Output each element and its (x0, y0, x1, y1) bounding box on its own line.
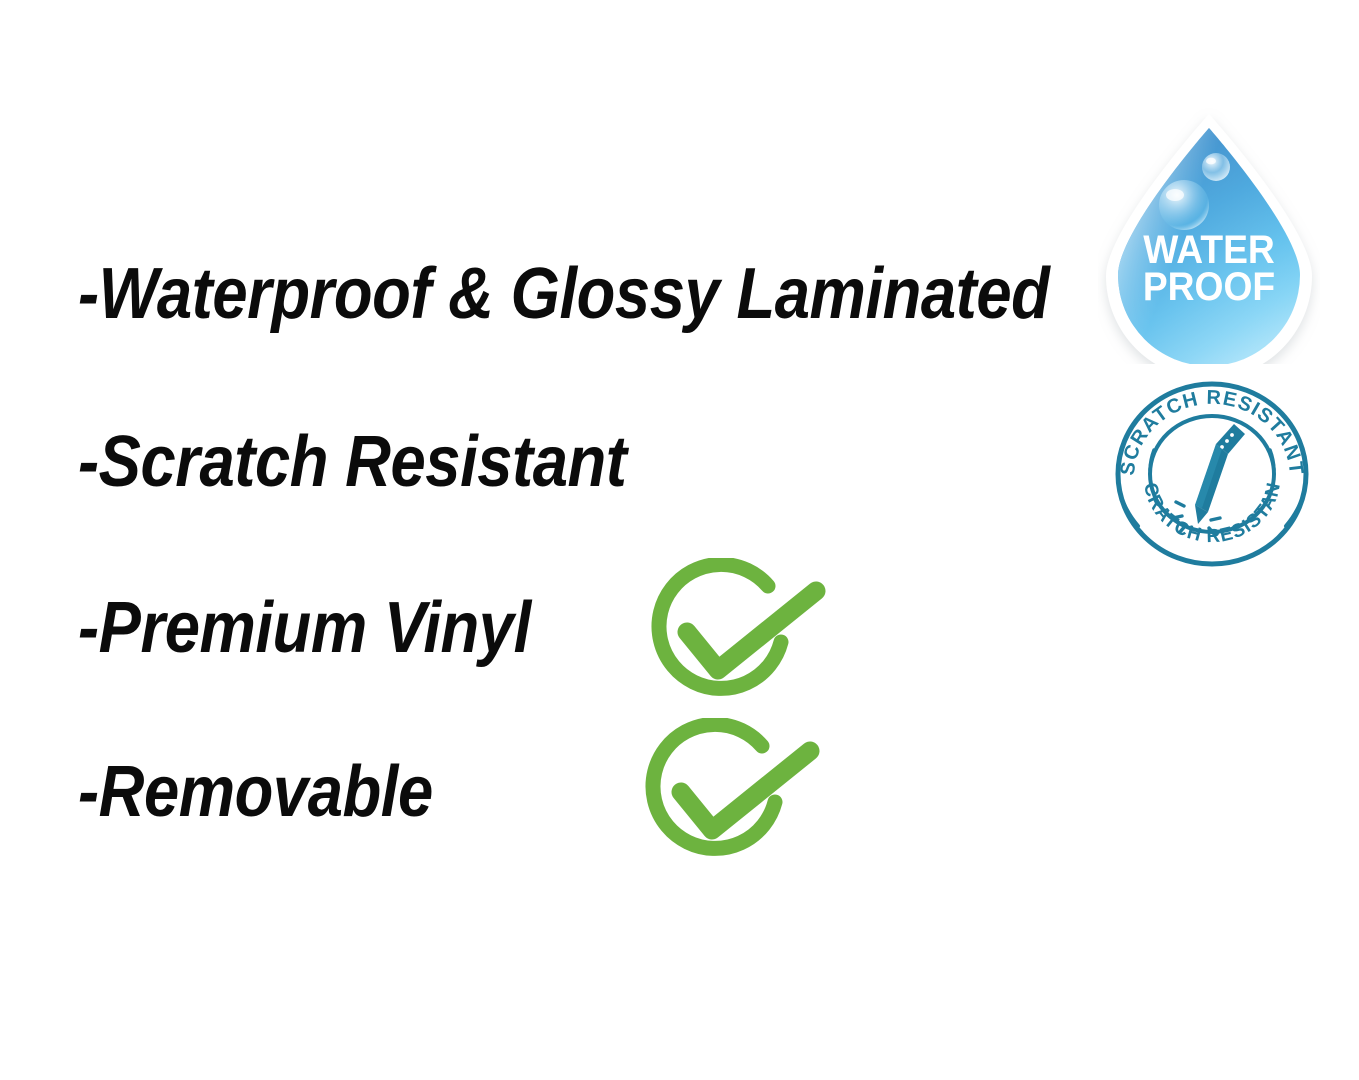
check-mark (681, 751, 810, 830)
check-circle-icon (640, 558, 835, 718)
feature-item-premium-vinyl: -Premium Vinyl (78, 592, 531, 664)
water-bubble-large (1159, 180, 1209, 230)
scratch-resistant-stamp: SCRATCH RESISTANT SCRATCH RESISTANT (1112, 378, 1312, 570)
product-features-graphic: -Waterproof & Glossy Laminated -Scratch … (0, 0, 1359, 1080)
feature-item-removable: -Removable (78, 756, 433, 828)
knife-icon (1173, 424, 1245, 535)
green-check-removable (634, 718, 829, 878)
scratch-resistant-seal-icon: SCRATCH RESISTANT SCRATCH RESISTANT (1112, 378, 1312, 570)
feature-item-scratch-resistant: -Scratch Resistant (78, 426, 626, 498)
green-check-premium-vinyl (640, 558, 835, 718)
water-drop-icon (1098, 108, 1320, 364)
water-bubble-small-highlight (1206, 158, 1216, 165)
water-bubble-small (1202, 153, 1230, 181)
feature-item-waterproof-glossy-laminated: -Waterproof & Glossy Laminated (78, 258, 1049, 330)
water-bubble-large-highlight (1166, 189, 1184, 201)
check-mark (687, 591, 816, 670)
check-circle-icon (634, 718, 829, 878)
waterproof-droplet-badge: WATER PROOF (1098, 108, 1320, 364)
